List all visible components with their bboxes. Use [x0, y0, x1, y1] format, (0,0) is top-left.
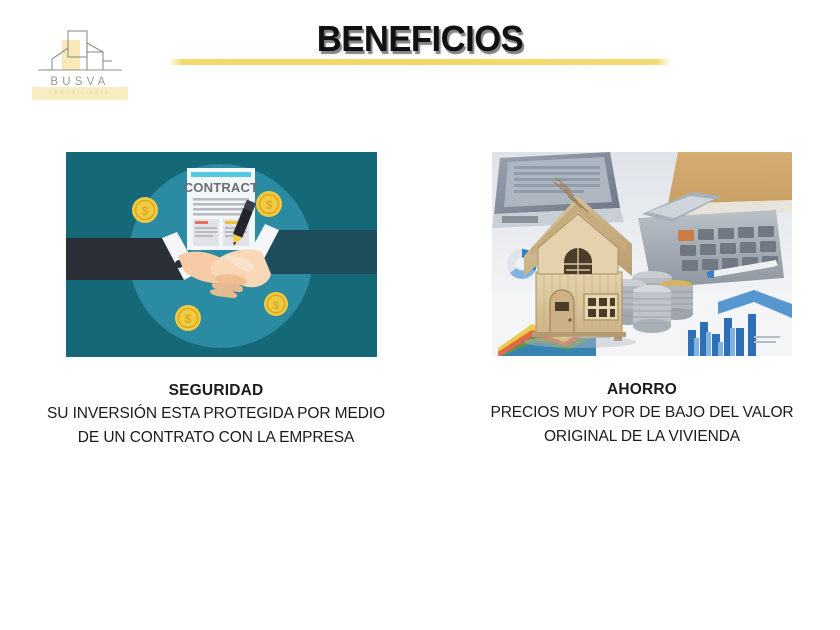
benefit-caption-seguridad: SEGURIDAD SU INVERSIÓN ESTA PROTEGIDA PO… [38, 383, 394, 449]
logo-tagline: INMOBILIARIA [24, 90, 136, 96]
title-underline-rule [168, 59, 672, 65]
house-model-coins-photo [492, 152, 792, 356]
benefit-body: PRECIOS MUY POR DE BAJO DEL VALOR ORIGIN… [470, 401, 814, 448]
benefit-card-seguridad: CONTRACT [50, 152, 380, 449]
coin-icon-bottom-left: $ [175, 305, 201, 331]
house-door [550, 290, 574, 334]
benefit-card-ahorro: AHORRO PRECIOS MUY POR DE BAJO DEL VALOR… [470, 152, 800, 448]
house-window [584, 294, 618, 320]
svg-text:$: $ [142, 204, 149, 218]
benefit-heading: SEGURIDAD [38, 383, 394, 399]
logo-wordmark: BUSVA [24, 76, 136, 88]
svg-text:$: $ [266, 198, 273, 212]
handshake-contract-svg: CONTRACT [66, 152, 377, 357]
svg-text:CONTRACT: CONTRACT [184, 180, 259, 195]
handshake-contract-illustration: CONTRACT [66, 152, 377, 357]
slide-title: BENEFICIOS [17, 18, 823, 60]
house-model-coins-svg [492, 152, 792, 356]
svg-text:$: $ [273, 300, 279, 312]
coin-icon-top-left: $ [132, 197, 158, 223]
coin-icon-top-right: $ [256, 191, 282, 217]
laptop [492, 152, 624, 228]
benefit-body: SU INVERSIÓN ESTA PROTEGIDA POR MEDIO DE… [38, 402, 394, 449]
coin-icon-bottom-right: $ [264, 292, 288, 316]
benefit-heading: AHORRO [470, 382, 814, 398]
benefit-caption-ahorro: AHORRO PRECIOS MUY POR DE BAJO DEL VALOR… [470, 382, 814, 448]
svg-text:$: $ [185, 312, 192, 326]
